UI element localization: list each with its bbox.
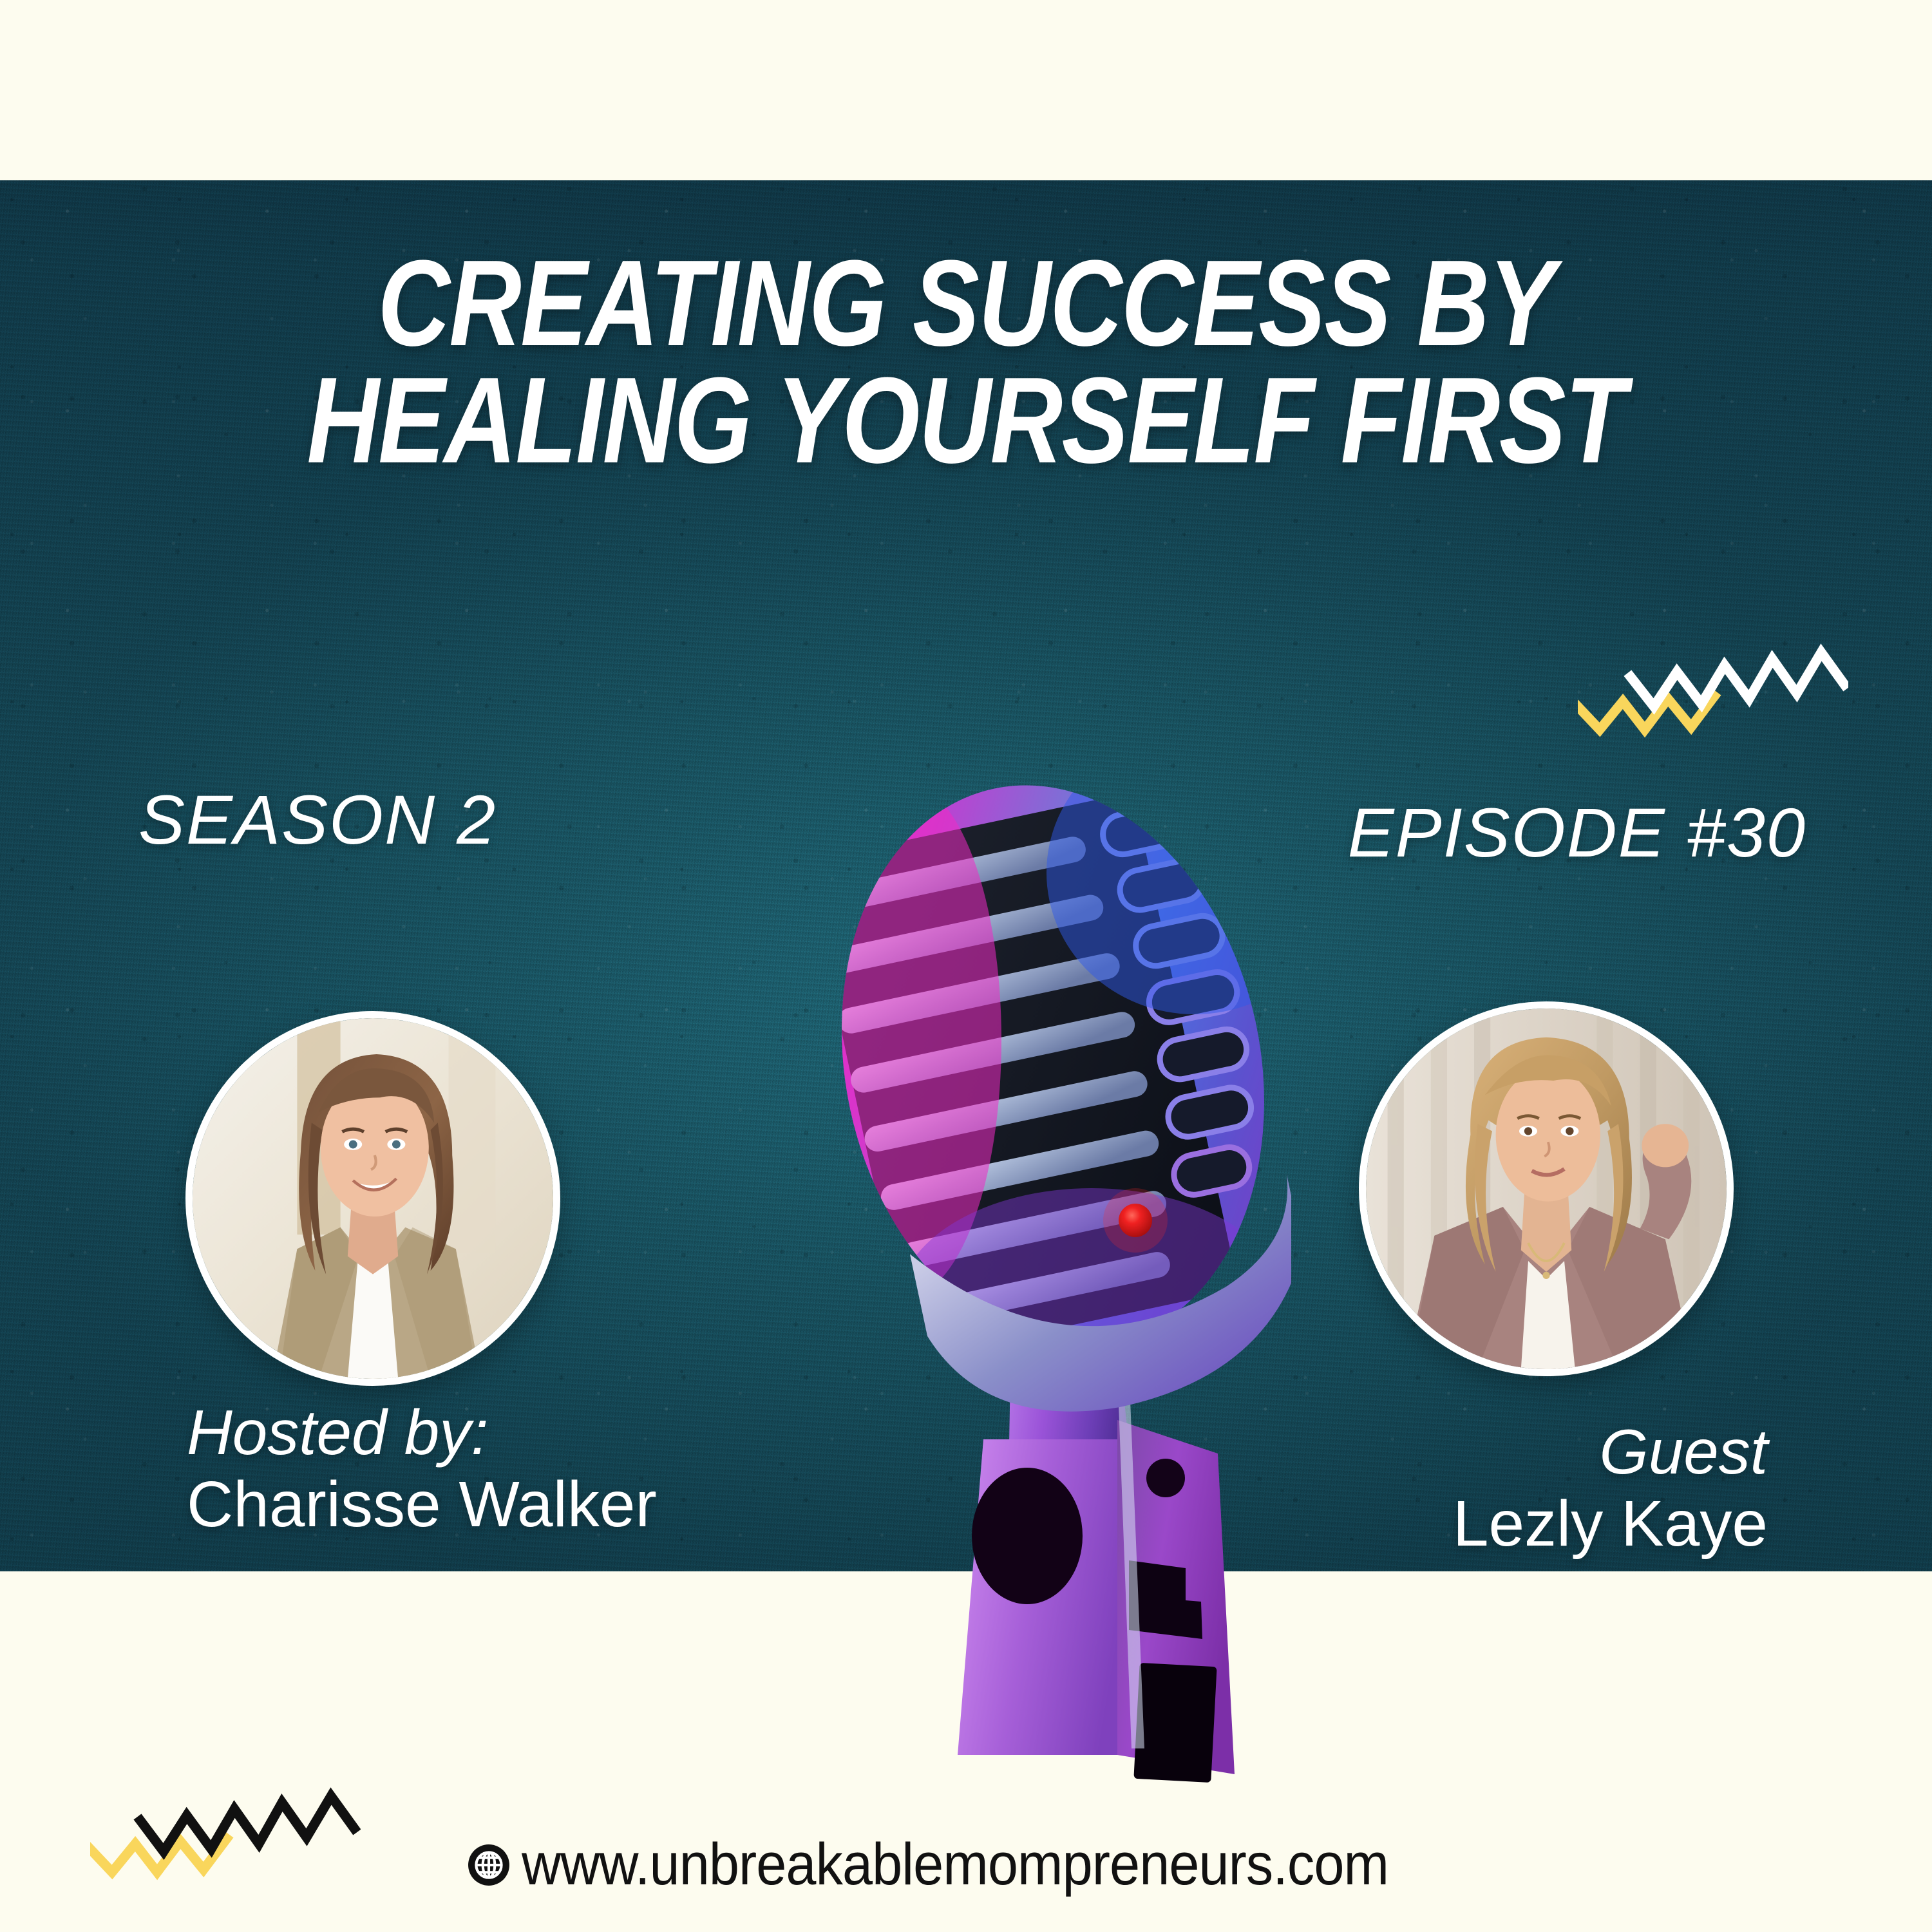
torn-paper-edge-top bbox=[0, 0, 1932, 180]
title-line-1: CREATING SUCCESS BY bbox=[253, 245, 1679, 362]
podcast-cover-art: CREATING SUCCESS BY HEALING YOURSELF FIR… bbox=[0, 0, 1932, 1932]
guest-name: Lezly Kaye bbox=[1453, 1488, 1768, 1560]
host-credit: Hosted by: Charisse Walker bbox=[187, 1397, 657, 1540]
website-url[interactable]: www.unbreakablemompreneurs.com bbox=[522, 1831, 1388, 1899]
zigzag-decoration-top-right bbox=[1578, 634, 1848, 757]
globe-icon bbox=[468, 1844, 510, 1886]
guest-credit: Guest Lezly Kaye bbox=[1453, 1417, 1768, 1560]
guest-role-label: Guest bbox=[1453, 1417, 1768, 1488]
mic-led-glow bbox=[1103, 1188, 1168, 1253]
zigzag-white-line bbox=[1631, 652, 1844, 706]
avatar-host bbox=[185, 1011, 560, 1386]
season-label: SEASON 2 bbox=[138, 779, 497, 860]
title-line-2: HEALING YOURSELF FIRST bbox=[253, 362, 1679, 479]
episode-label: EPISODE #30 bbox=[1348, 792, 1806, 873]
page-title: CREATING SUCCESS BY HEALING YOURSELF FIR… bbox=[0, 245, 1932, 480]
avatar-guest bbox=[1359, 1001, 1734, 1376]
host-role-label: Hosted by: bbox=[187, 1397, 657, 1468]
mic-base-hole bbox=[972, 1468, 1083, 1604]
host-name: Charisse Walker bbox=[187, 1468, 657, 1540]
mic-base-screw bbox=[1146, 1459, 1185, 1497]
microphone-illustration bbox=[815, 770, 1291, 1813]
mic-base-window bbox=[1133, 1663, 1217, 1783]
mic-head bbox=[815, 770, 1291, 1443]
footer-website: www.unbreakablemompreneurs.com bbox=[0, 1831, 1932, 1899]
